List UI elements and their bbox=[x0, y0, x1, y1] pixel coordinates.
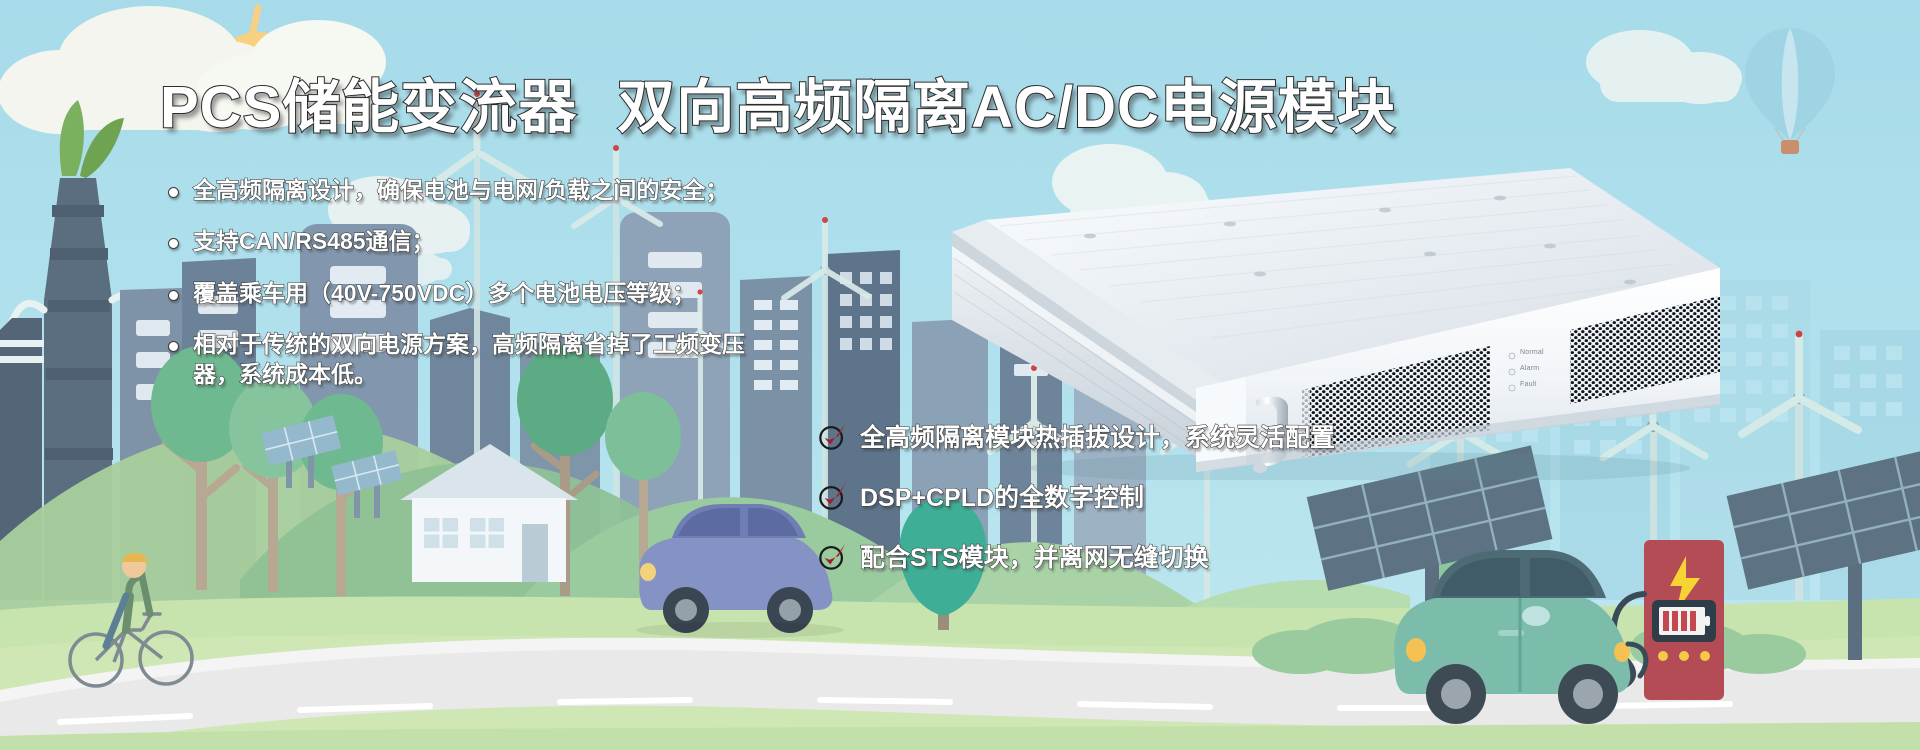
bullet-dot-icon bbox=[168, 238, 179, 249]
check-item: 配合STS模块，并离网无缝切换 bbox=[818, 538, 1438, 574]
bullet-dot-icon bbox=[168, 187, 179, 198]
bullet-text: 全高频隔离设计，确保电池与电网/负载之间的安全； bbox=[193, 176, 728, 205]
bullet-dot-icon bbox=[168, 290, 179, 301]
banner-title: PCS储能变流器 双向高频隔离AC/DC电源模块 bbox=[160, 62, 1380, 142]
bullet-item: 相对于传统的双向电源方案，高频隔离省掉了工频变压器，系统成本低。 bbox=[168, 330, 928, 389]
title-part-right: 双向高频隔离AC/DC电源模块 bbox=[617, 60, 1396, 144]
check-circle-icon bbox=[818, 541, 848, 571]
bullet-item: 覆盖乘车用（40V-750VDC）多个电池电压等级； bbox=[168, 279, 928, 308]
title-part-left: PCS储能变流器 bbox=[160, 60, 577, 144]
check-circle-icon bbox=[818, 421, 848, 451]
bullet-text: 覆盖乘车用（40V-750VDC）多个电池电压等级； bbox=[193, 279, 695, 308]
benefit-check-list: 全高频隔离模块热插拔设计，系统灵活配置 DSP+CPLD的全数字控制 配合STS… bbox=[818, 418, 1438, 598]
led-label-alarm: Alarm bbox=[1520, 365, 1539, 372]
check-item: 全高频隔离模块热插拔设计，系统灵活配置 bbox=[818, 418, 1438, 454]
check-text: DSP+CPLD的全数字控制 bbox=[860, 478, 1144, 514]
bullet-text: 相对于传统的双向电源方案，高频隔离省掉了工频变压器，系统成本低。 bbox=[193, 330, 753, 389]
bullet-text: 支持CAN/RS485通信； bbox=[193, 227, 435, 256]
led-label-normal: Normal bbox=[1520, 349, 1544, 356]
bullet-item: 全高频隔离设计，确保电池与电网/负载之间的安全； bbox=[168, 176, 928, 205]
check-text: 全高频隔离模块热插拔设计，系统灵活配置 bbox=[860, 418, 1335, 454]
bullet-item: 支持CAN/RS485通信； bbox=[168, 227, 928, 256]
bullet-dot-icon bbox=[168, 341, 179, 352]
product-banner: Normal Alarm Fault PCS储能变流器 双向高频隔离AC/DC电… bbox=[0, 0, 1920, 750]
feature-bullet-list: 全高频隔离设计，确保电池与电网/负载之间的安全； 支持CAN/RS485通信； … bbox=[168, 176, 928, 411]
led-label-fault: Fault bbox=[1520, 381, 1537, 388]
check-circle-icon bbox=[818, 481, 848, 511]
check-item: DSP+CPLD的全数字控制 bbox=[818, 478, 1438, 514]
check-text: 配合STS模块，并离网无缝切换 bbox=[860, 538, 1209, 574]
